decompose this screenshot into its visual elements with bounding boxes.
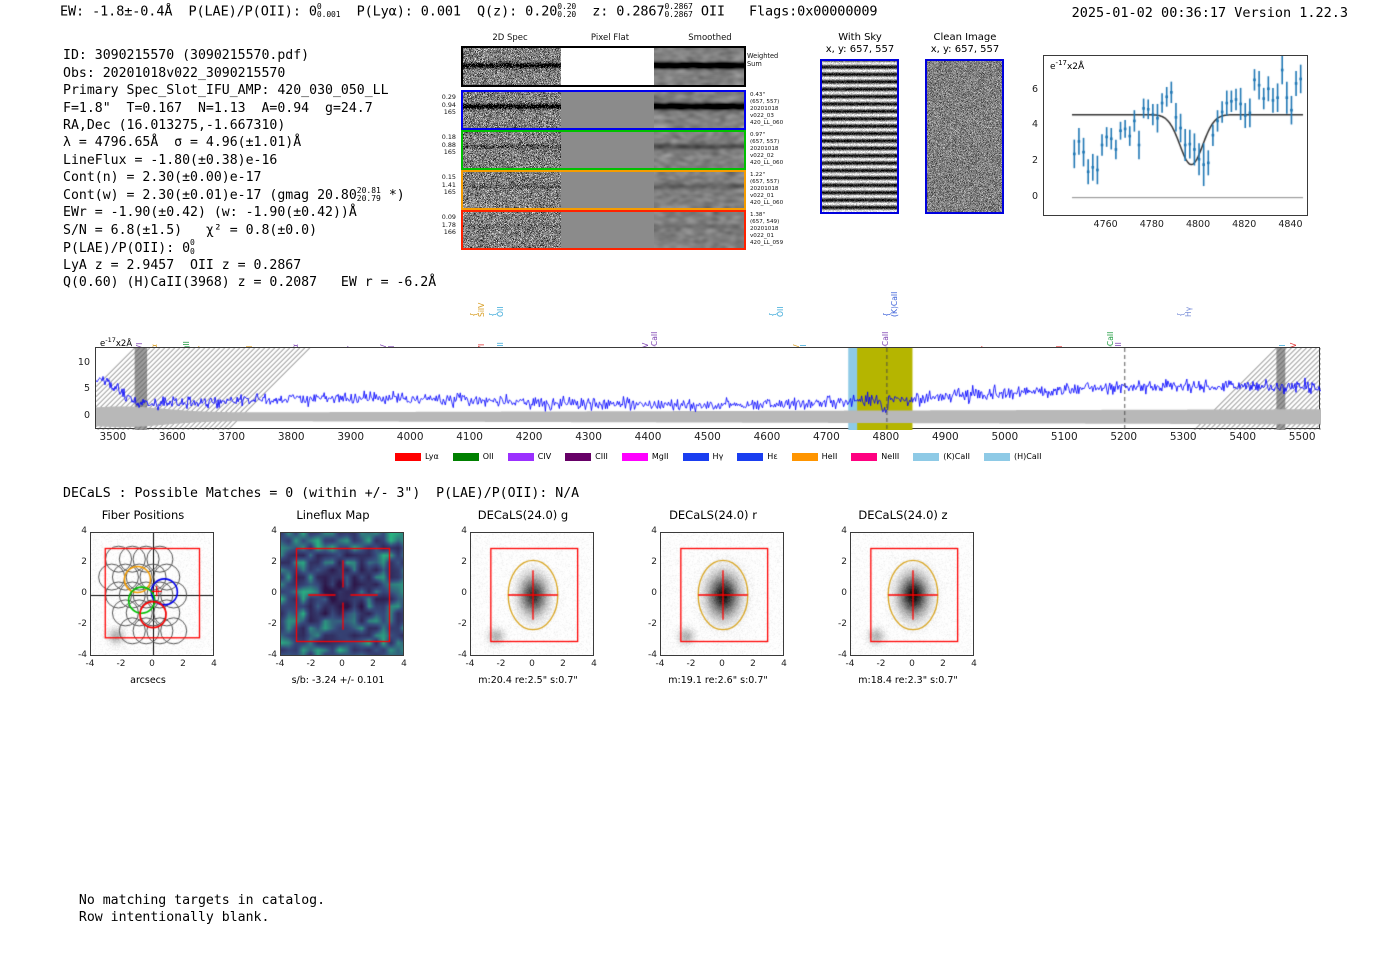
legend-swatch [913, 453, 939, 461]
decals-xtick: 0 [141, 659, 163, 669]
spectrum-xtick: 3700 [210, 431, 254, 443]
decals-ytick: 4 [260, 526, 277, 536]
decals-panel-image [280, 532, 404, 656]
spec2d-smoothed-image [654, 172, 744, 208]
spectrum-units: e-17x2Å [100, 336, 132, 349]
decals-panel-caption: arcsecs [58, 675, 238, 686]
legend-item: Hε [737, 452, 777, 461]
legend-item: Hγ [683, 452, 724, 461]
decals-panel-image [470, 532, 594, 656]
spec2d-exposure-panel [461, 90, 746, 130]
decals-xtick: -4 [79, 659, 101, 669]
legend-swatch [851, 453, 877, 461]
decals-panel-caption: m:19.1 re:2.6" s:0.7" [628, 675, 808, 686]
decals-ytick: 2 [70, 557, 87, 567]
decals-ytick: -4 [260, 650, 277, 660]
decals-xtick: 4 [583, 659, 605, 669]
decals-ytick: 0 [830, 588, 847, 598]
info-fwhm: F=1.8" T=0.167 N=1.13 A=0.94 g=24.7 [63, 101, 373, 116]
spectrum-xtick: 5000 [983, 431, 1027, 443]
decals-ytick: 0 [260, 588, 277, 598]
spec2d-exposure-panel [461, 210, 746, 250]
decals-panel-title: DECaLS(24.0) g [438, 508, 608, 522]
emission-line-brace: { [488, 312, 497, 317]
spectrum-ytick: 5 [70, 383, 90, 394]
decals-panel-title: DECaLS(24.0) r [628, 508, 798, 522]
decals-panel-caption: s/b: -3.24 +/- 0.101 [248, 675, 428, 686]
line-fit-units: e-17x2Å [1050, 59, 1084, 72]
decals-panel-image [850, 532, 974, 656]
spectrum-xtick: 4600 [745, 431, 789, 443]
summary-header: EW: -1.8±-0.4Å P(LAE)/P(OII): 000.001 P(… [60, 3, 877, 20]
decals-xtick: -2 [110, 659, 132, 669]
decals-ytick: -2 [830, 619, 847, 629]
info-ewr: EWr = -1.90(±0.42) (w: -1.90(±0.42))Å [63, 205, 357, 220]
cont-w-pre: Cont(w) = 2.30(±0.01)e-17 (gmag 20.80 [63, 188, 357, 203]
decals-panel-caption: m:20.4 re:2.5" s:0.7" [438, 675, 618, 686]
decals-ytick: 2 [260, 557, 277, 567]
spec2d-row-left-stats: 0.29 0.94 165 [428, 94, 456, 117]
decals-ytick: -4 [640, 650, 657, 660]
emission-line-label: SiIV [477, 303, 486, 317]
spec2d-row-left-stats: 0.09 1.78 166 [428, 214, 456, 237]
decals-xtick: 4 [393, 659, 415, 669]
spec2d-smoothed-image [654, 132, 744, 168]
info-snr: S/N = 6.8(±1.5) χ² = 0.8(±0.0) [63, 223, 317, 238]
linefit-ytick: 2 [1016, 155, 1038, 166]
decals-ytick: 4 [830, 526, 847, 536]
legend-item: (K)CaII [913, 452, 970, 461]
line-fit-xticks: 47604780480048204840 [1043, 219, 1308, 233]
footer-line2: Row intentionally blank. [79, 910, 270, 925]
linefit-ytick: 6 [1016, 84, 1038, 95]
decals-ytick: 0 [70, 588, 87, 598]
decals-xtick: 2 [932, 659, 954, 669]
decals-xtick: 4 [773, 659, 795, 669]
legend-swatch [792, 453, 818, 461]
legend-swatch [395, 453, 421, 461]
emission-line-label: Hγ [1184, 307, 1193, 317]
decals-xtick: -2 [870, 659, 892, 669]
legend-item: Lyα [395, 452, 439, 461]
spec2d-row-meta: 1.38" (657, 549) 20201018 v022_01 420_LL… [750, 212, 808, 247]
decals-ytick: 4 [640, 526, 657, 536]
emission-line-brace: { [1176, 312, 1185, 317]
decals-panel-image [90, 532, 214, 656]
decals-xtick: -2 [490, 659, 512, 669]
spectrum-xtick: 4800 [864, 431, 908, 443]
cutout-image [925, 59, 1004, 214]
spectrum-xtick: 3900 [329, 431, 373, 443]
z-sub: 0.2867 [664, 11, 692, 19]
legend-label: Hε [767, 452, 777, 461]
spectrum-xtick: 4200 [507, 431, 551, 443]
z-species: OII [701, 3, 725, 19]
legend-swatch [737, 453, 763, 461]
spec2d-exposure-panel [461, 170, 746, 210]
emission-line-label: OII [776, 307, 785, 317]
legend-item: CIV [508, 452, 551, 461]
decals-panel-caption: m:18.4 re:2.3" s:0.7" [818, 675, 998, 686]
spectrum-xtick: 4500 [686, 431, 730, 443]
spec2d-row-left-stats: 0.18 0.88 165 [428, 134, 456, 157]
spectrum-xtick: 3500 [91, 431, 135, 443]
legend-label: MgII [652, 452, 669, 461]
emission-line-labels: SiVI{Lyα{MgII{NV{SiII{Lyα{NV{CIV{SiII{CI… [95, 276, 1325, 348]
decals-ytick: 4 [70, 526, 87, 536]
linefit-ytick: 0 [1016, 191, 1038, 202]
info-radec: RA,Dec (16.013275,-1.667310) [63, 118, 285, 133]
info-plae-text: P(LAE)/P(OII): 0 [63, 241, 190, 256]
plae-sub: 0.001 [317, 11, 341, 19]
ew-summary: EW: -1.8±-0.4Å [60, 3, 172, 19]
decals-ytick: 0 [640, 588, 657, 598]
legend-label: HeII [822, 452, 838, 461]
linefit-ytick: 4 [1016, 119, 1038, 130]
footer-note: No matching targets in catalog. Row inte… [63, 874, 325, 927]
decals-xtick: -2 [300, 659, 322, 669]
decals-panel-title: Lineflux Map [248, 508, 418, 522]
legend-item: (H)CaII [984, 452, 1041, 461]
decals-ytick: 2 [830, 557, 847, 567]
cont-w-post: *) [389, 188, 405, 203]
legend-label: CIII [595, 452, 608, 461]
spec2d-row-left-stats: 0.15 1.41 165 [428, 174, 456, 197]
info-cont-n: Cont(n) = 2.30(±0.00)e-17 [63, 170, 262, 185]
legend-label: (H)CaII [1014, 452, 1041, 461]
timestamp-version: 2025-01-02 00:36:17 Version 1.22.3 [1072, 5, 1348, 21]
spectrum-xtick: 4700 [804, 431, 848, 443]
weighted-sum-strip [461, 46, 746, 87]
decals-xtick: 0 [711, 659, 733, 669]
spectrum-xtick: 4400 [626, 431, 670, 443]
info-lineflux: LineFlux = -1.80(±0.38)e-16 [63, 153, 277, 168]
legend-item: OII [453, 452, 494, 461]
spectrum-yticks: 0510 [70, 347, 94, 429]
decals-panel-title: Fiber Positions [58, 508, 228, 522]
decals-ytick: -4 [70, 650, 87, 660]
source-info-block: ID: 3090215570 (3090215570.pdf) Obs: 202… [63, 30, 436, 292]
spec2d-col-title-2dspec: 2D Spec [460, 33, 560, 43]
emission-line-label: (K)CaII [890, 292, 899, 317]
spectrum-xtick: 4900 [923, 431, 967, 443]
decals-xtick: 0 [331, 659, 353, 669]
decals-xtick: -4 [839, 659, 861, 669]
spectrum-ytick: 0 [70, 410, 90, 421]
decals-panel-image [660, 532, 784, 656]
spectrum-xtick: 4300 [567, 431, 611, 443]
spec2d-exposure-panel [461, 130, 746, 170]
spectrum-xtick: 4000 [388, 431, 432, 443]
line-fit-yticks: 0246 [1016, 55, 1042, 216]
decals-ytick: 4 [450, 526, 467, 536]
decals-ytick: -2 [640, 619, 657, 629]
legend-label: (K)CaII [943, 452, 970, 461]
legend-swatch [984, 453, 1010, 461]
info-plae: P(LAE)/P(OII): 000 [63, 241, 195, 256]
spec2d-pixel-flat [561, 212, 654, 248]
decals-xtick: 0 [521, 659, 543, 669]
spectrum-xtick: 5200 [1102, 431, 1146, 443]
info-cont-w: Cont(w) = 2.30(±0.01)e-17 (gmag 20.8020.… [63, 188, 405, 203]
legend-item: HeII [792, 452, 838, 461]
spec2d-smoothed-image [654, 212, 744, 248]
gmag-sub: 20.79 [357, 195, 381, 203]
qz-sub: 0.20 [557, 11, 576, 19]
decals-ytick: 2 [640, 557, 657, 567]
z-summary: z: 0.2867 [592, 3, 664, 19]
spec2d-section: 2D Spec Pixel Flat Smoothed [460, 33, 760, 45]
emission-line-brace: { [768, 312, 777, 317]
plae-poii-summary: P(LAE)/P(OII): 0 [188, 3, 316, 19]
legend-label: Hγ [713, 452, 724, 461]
spec2d-raw-image [463, 212, 561, 248]
linefit-xtick: 4800 [1182, 219, 1214, 230]
legend-item: NeIII [851, 452, 899, 461]
spec2d-col-title-smoothed: Smoothed [660, 33, 760, 43]
decals-xtick: -4 [649, 659, 671, 669]
emission-line-brace: { [469, 312, 478, 317]
legend-label: OII [483, 452, 494, 461]
spec2d-pixel-flat [561, 172, 654, 208]
decals-ytick: -4 [830, 650, 847, 660]
legend-item: MgII [622, 452, 669, 461]
info-lambda: λ = 4796.65Å σ = 4.96(±1.01)Å [63, 135, 301, 150]
decals-ytick: 0 [450, 588, 467, 598]
decals-panel-row: Fiber PositionsNE-4-4-2-2002244arcsecsLi… [58, 508, 1058, 718]
decals-ytick: -2 [260, 619, 277, 629]
legend-label: CIV [538, 452, 551, 461]
spectrum-xtick: 4100 [448, 431, 492, 443]
decals-xtick: 0 [901, 659, 923, 669]
qz-summary: Q(z): 0.20 [477, 3, 557, 19]
decals-xtick: -2 [680, 659, 702, 669]
spec2d-raw-image [463, 92, 561, 128]
full-spectrum-plot: e-17x2Å [95, 347, 1320, 429]
info-obs: Obs: 20201018v022_3090215570 [63, 66, 285, 81]
cutout-coords: x, y: 657, 557 [920, 44, 1010, 55]
linefit-xtick: 4780 [1136, 219, 1168, 230]
decals-xtick: -4 [269, 659, 291, 669]
spectrum-xtick: 5300 [1161, 431, 1205, 443]
spec2d-row-meta: 0.97" (657, 557) 20201018 v022_02 420_LL… [750, 132, 808, 167]
decals-ytick: -4 [450, 650, 467, 660]
legend-swatch [453, 453, 479, 461]
decals-xtick: 2 [172, 659, 194, 669]
decals-ytick: 2 [450, 557, 467, 567]
legend-item: CIII [565, 452, 608, 461]
spectrum-ytick: 10 [70, 357, 90, 368]
footer-line1: No matching targets in catalog. [79, 893, 325, 908]
spectrum-xticks: 3500360037003800390040004100420043004400… [95, 431, 1320, 445]
legend-swatch [565, 453, 591, 461]
decals-header: DECaLS : Possible Matches = 0 (within +/… [63, 486, 579, 501]
legend-swatch [508, 453, 534, 461]
decals-xtick: 2 [552, 659, 574, 669]
emission-line-legend: LyαOIICIVCIIIMgIIHγHεHeIINeIII(K)CaII(H)… [395, 446, 995, 460]
decals-panel-title: DECaLS(24.0) z [818, 508, 988, 522]
spec2d-pixel-flat [561, 92, 654, 128]
legend-label: NeIII [881, 452, 899, 461]
flags-summary: Flags:0x00000009 [749, 3, 877, 19]
decals-xtick: 4 [963, 659, 985, 669]
plya-summary: P(Lyα): 0.001 [357, 3, 461, 19]
cutout-title: With Sky [815, 32, 905, 43]
cutout-title: Clean Image [920, 32, 1010, 43]
decals-xtick: 4 [203, 659, 225, 669]
info-primary-spec: Primary Spec_Slot_IFU_AMP: 420_030_050_L… [63, 83, 389, 98]
spec2d-raw-image [463, 132, 561, 168]
emission-line-brace: { [882, 312, 891, 317]
spec2d-row-meta: 0.43" (657, 557) 20201018 v022_03 420_LL… [750, 92, 808, 127]
decals-xtick: -4 [459, 659, 481, 669]
spec2d-raw-image [463, 172, 561, 208]
cutout-coords: x, y: 657, 557 [815, 44, 905, 55]
spectrum-xtick: 3800 [269, 431, 313, 443]
spectrum-xtick: 5100 [1042, 431, 1086, 443]
spectrum-xtick: 3600 [150, 431, 194, 443]
decals-ytick: -2 [70, 619, 87, 629]
spec2d-row-meta: 1.22" (657, 557) 20201018 v022_01 420_LL… [750, 172, 808, 207]
legend-swatch [683, 453, 709, 461]
spectrum-xtick: 5400 [1221, 431, 1265, 443]
linefit-xtick: 4820 [1228, 219, 1260, 230]
cutout-image [820, 59, 899, 214]
legend-swatch [622, 453, 648, 461]
info-plae-sub: 0 [190, 248, 195, 256]
spec2d-col-title-pixelflat: Pixel Flat [560, 33, 660, 43]
info-redshifts: LyA z = 2.9457 OII z = 0.2867 [63, 258, 301, 273]
decals-ytick: -2 [450, 619, 467, 629]
decals-xtick: 2 [362, 659, 384, 669]
spec2d-smoothed-image [654, 92, 744, 128]
linefit-xtick: 4840 [1274, 219, 1306, 230]
linefit-xtick: 4760 [1090, 219, 1122, 230]
spectrum-xtick: 5500 [1280, 431, 1324, 443]
decals-xtick: 2 [742, 659, 764, 669]
line-fit-plot: e-17x2Å [1043, 55, 1308, 216]
info-id: ID: 3090215570 (3090215570.pdf) [63, 48, 309, 63]
spec2d-pixel-flat [561, 132, 654, 168]
weighted-sum-label: Weighted Sum [747, 52, 778, 69]
legend-label: Lyα [425, 452, 439, 461]
